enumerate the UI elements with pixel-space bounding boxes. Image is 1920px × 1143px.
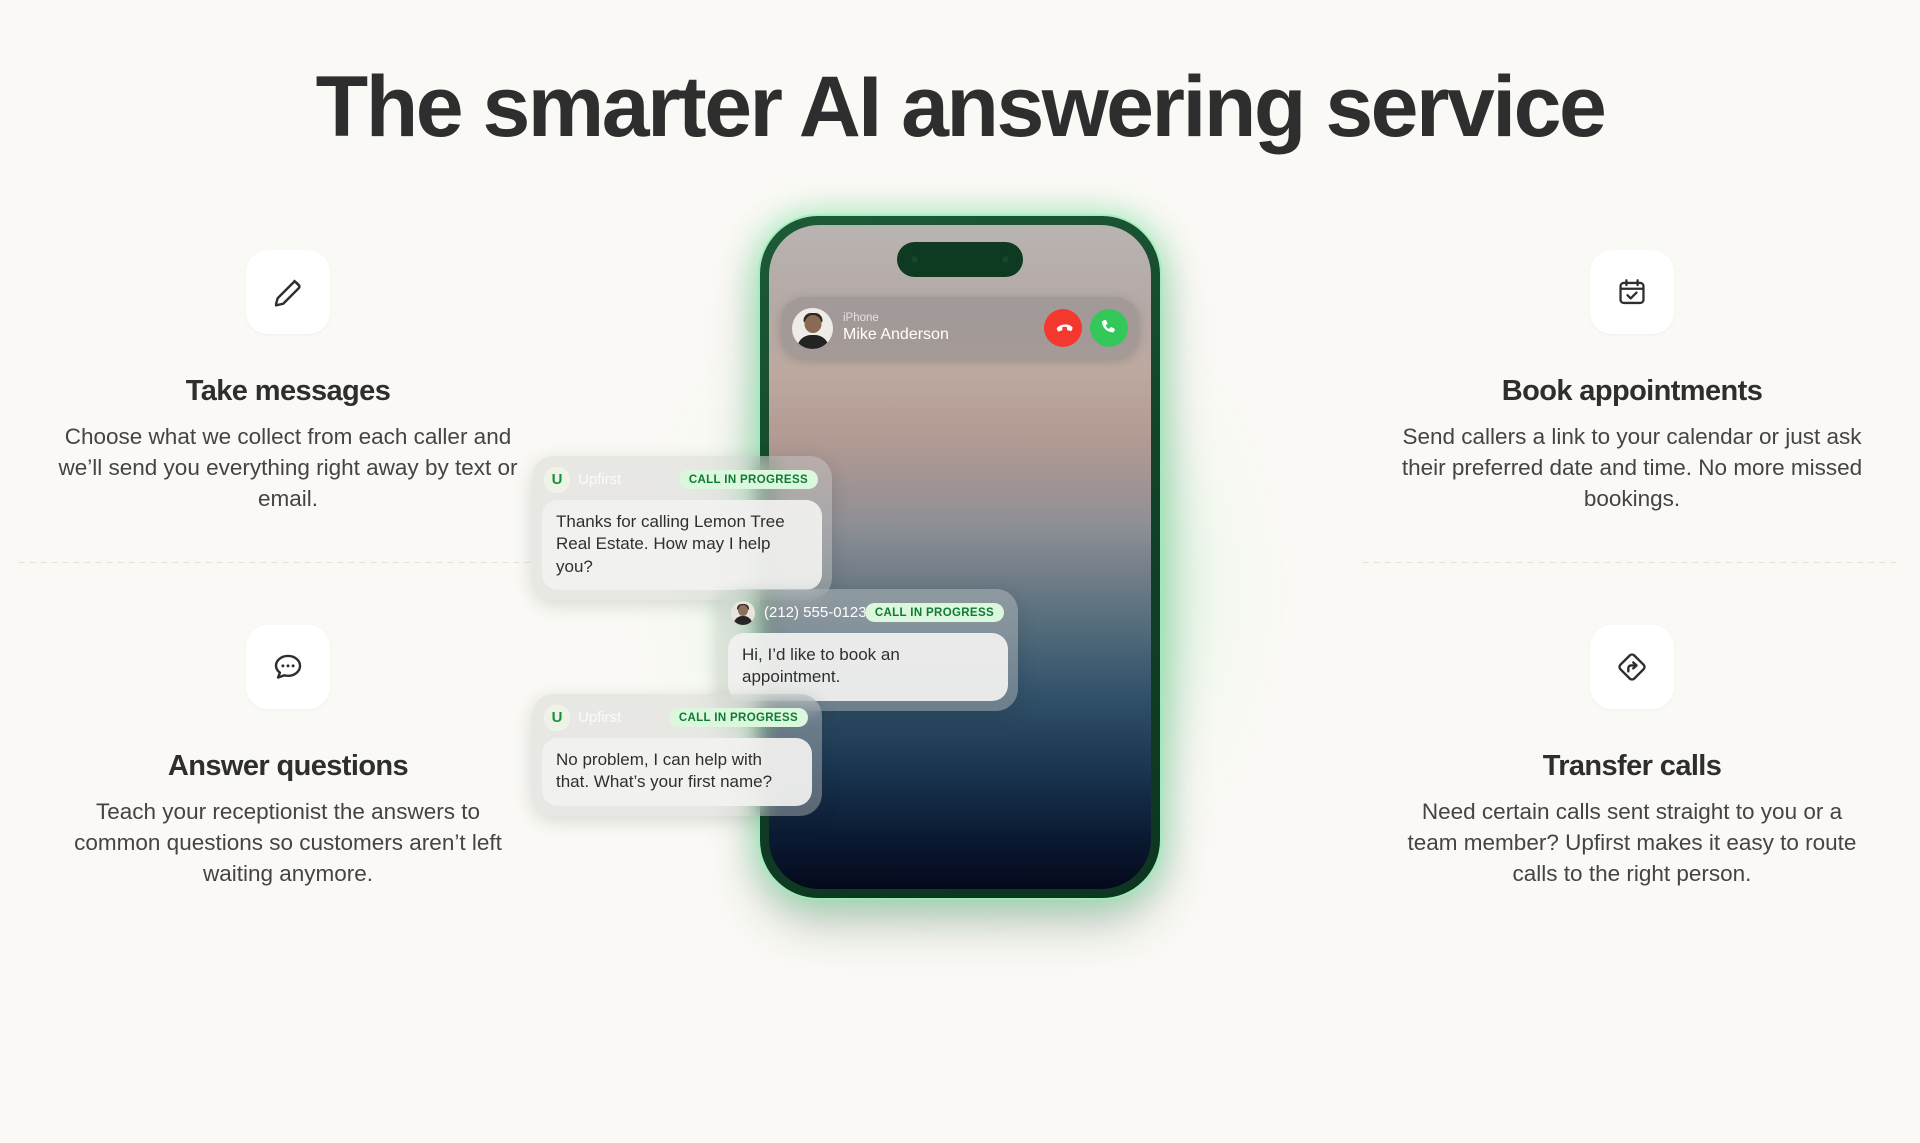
accept-call-button[interactable] [1090, 309, 1128, 347]
feature-title: Take messages [186, 375, 390, 408]
feature-description: Teach your receptionist the answers to c… [53, 797, 523, 889]
notification-header: U Upfirst CALL IN PROGRESS [542, 703, 812, 731]
feature-title: Answer questions [168, 750, 408, 783]
phone-accept-icon [1099, 318, 1119, 338]
notification-header: U Upfirst CALL IN PROGRESS [542, 465, 822, 493]
caller-avatar [731, 601, 755, 625]
feature-description: Send callers a link to your calendar or … [1397, 422, 1867, 514]
notification-message: Hi, I’d like to book an appointment. [728, 633, 1008, 701]
notification-message: Thanks for calling Lemon Tree Real Estat… [542, 500, 822, 590]
notification-app-name: Upfirst [578, 709, 669, 726]
notification-header: (212) 555-0123 CALL IN PROGRESS [728, 598, 1008, 626]
phone-decline-icon [1053, 318, 1073, 338]
feature-description: Choose what we collect from each caller … [53, 422, 523, 514]
caller-avatar [792, 308, 833, 349]
feature-column-left: Take messages Choose what we collect fro… [18, 250, 558, 912]
camera-lens-icon [910, 255, 919, 264]
feature-answer-questions: Answer questions Teach your receptionist… [18, 563, 558, 911]
caller-name: Mike Anderson [843, 326, 1044, 344]
notification-message: No problem, I can help with that. What’s… [542, 738, 812, 806]
notification-app-name: (212) 555-0123 [764, 604, 865, 621]
pencil-icon-card [246, 250, 330, 334]
upfirst-logo-icon: U [545, 468, 569, 492]
calendar-check-icon [1616, 276, 1648, 308]
notification-card[interactable]: (212) 555-0123 CALL IN PROGRESS Hi, I’d … [718, 589, 1018, 711]
feature-take-messages: Take messages Choose what we collect fro… [18, 250, 558, 536]
page-title: The smarter AI answering service [0, 0, 1920, 152]
pencil-icon [271, 275, 305, 309]
feature-column-right: Book appointments Send callers a link to… [1362, 250, 1902, 912]
notification-card[interactable]: U Upfirst CALL IN PROGRESS Thanks for ca… [532, 456, 832, 600]
chat-bubble-dots-icon [271, 650, 305, 684]
upfirst-logo-letter: U [552, 472, 563, 487]
sensor-lens-icon [1001, 255, 1010, 264]
decline-call-button[interactable] [1044, 309, 1082, 347]
chat-bubble-dots-icon-card [246, 625, 330, 709]
turn-right-sign-icon-card [1590, 625, 1674, 709]
call-app-label: iPhone [843, 312, 1044, 325]
upfirst-logo-icon: U [545, 706, 569, 730]
status-badge: CALL IN PROGRESS [669, 708, 808, 727]
feature-description: Need certain calls sent straight to you … [1397, 797, 1867, 889]
calendar-check-icon-card [1590, 250, 1674, 334]
dynamic-island [897, 242, 1023, 277]
notification-card[interactable]: U Upfirst CALL IN PROGRESS No problem, I… [532, 694, 822, 816]
upfirst-logo-letter: U [552, 710, 563, 725]
call-info: iPhone Mike Anderson [843, 312, 1044, 344]
status-badge: CALL IN PROGRESS [865, 603, 1004, 622]
notification-app-name: Upfirst [578, 471, 679, 488]
landing-page-section: The smarter AI answering service Take me… [0, 0, 1920, 1143]
feature-transfer-calls: Transfer calls Need certain calls sent s… [1362, 563, 1902, 911]
feature-title: Book appointments [1502, 375, 1762, 408]
phone-mockup: iPhone Mike Anderson [650, 216, 1270, 936]
feature-title: Transfer calls [1543, 750, 1722, 783]
incoming-call-banner[interactable]: iPhone Mike Anderson [781, 297, 1139, 359]
feature-book-appointments: Book appointments Send callers a link to… [1362, 250, 1902, 536]
status-badge: CALL IN PROGRESS [679, 470, 818, 489]
turn-right-sign-icon [1615, 650, 1649, 684]
call-actions [1044, 309, 1128, 347]
